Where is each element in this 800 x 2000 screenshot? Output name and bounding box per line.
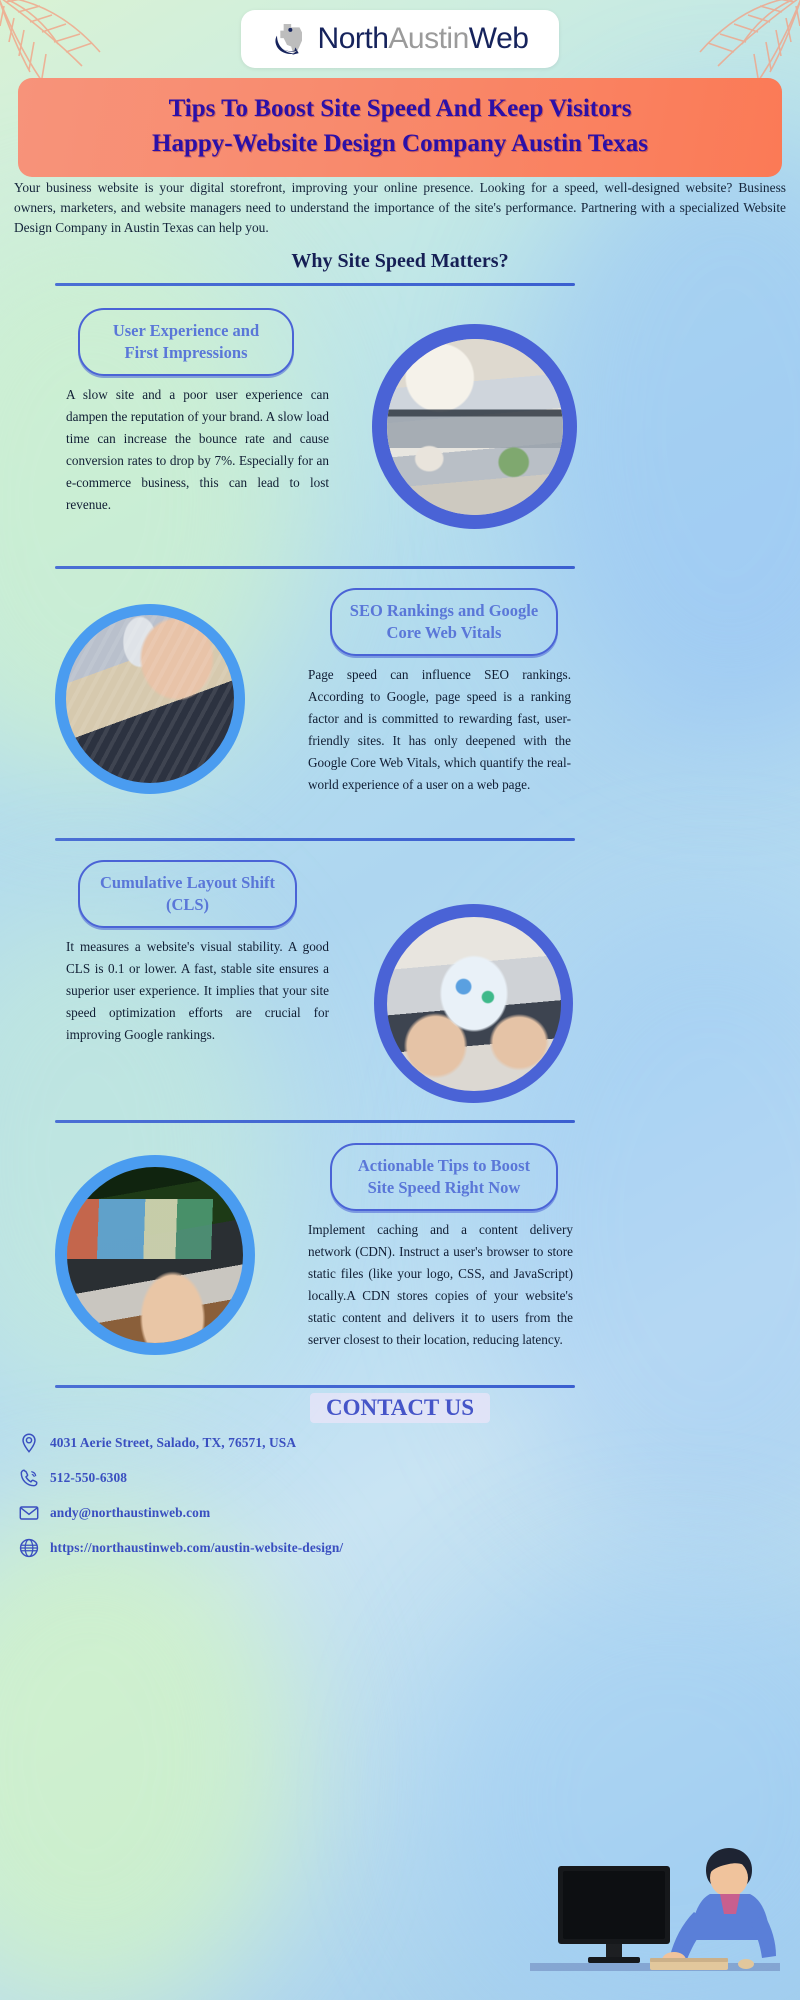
contact-heading-text: CONTACT US <box>310 1393 490 1423</box>
card-body-4: Implement caching and a content delivery… <box>308 1219 573 1350</box>
infographic-poster: NorthAustinWeb Tips To Boost Site Speed … <box>0 0 800 2000</box>
location-pin-icon <box>18 1432 40 1454</box>
contact-phone-text: 512-550-6308 <box>50 1470 127 1486</box>
divider-top <box>55 283 575 286</box>
card-body-2: Page speed can influence SEO rankings. A… <box>308 664 571 795</box>
section-heading: Why Site Speed Matters? <box>0 250 800 273</box>
intro-paragraph: Your business website is your digital st… <box>14 178 786 237</box>
contact-item-address[interactable]: 4031 Aerie Street, Salado, TX, 76571, US… <box>18 1432 488 1454</box>
card-title-4: Actionable Tips to Boost Site Speed Righ… <box>330 1143 558 1211</box>
divider-2 <box>55 838 575 841</box>
card-photo-3 <box>374 904 573 1103</box>
card-title-pill-3: Cumulative Layout Shift (CLS) <box>78 860 297 928</box>
contact-item-phone[interactable]: 512-550-6308 <box>18 1467 488 1489</box>
texas-swoosh-icon <box>272 19 312 59</box>
contact-website-text: https://northaustinweb.com/austin-websit… <box>50 1540 343 1556</box>
phone-icon <box>18 1467 40 1489</box>
logo-word-austin: Austin <box>388 22 468 55</box>
card-photo-2 <box>55 604 245 794</box>
card-title-2: SEO Rankings and Google Core Web Vitals <box>330 588 558 656</box>
person-at-desk-illustration <box>470 1840 790 2000</box>
contact-list: 4031 Aerie Street, Salado, TX, 76571, US… <box>18 1432 488 1572</box>
divider-1 <box>55 566 575 569</box>
envelope-icon <box>18 1502 40 1524</box>
card-title-pill-1: User Experience and First Impressions <box>78 308 294 376</box>
brand-logo-text: NorthAustinWeb <box>318 22 529 56</box>
logo-word-north: North <box>318 22 389 55</box>
card-photo-4 <box>55 1155 255 1355</box>
page-title: Tips To Boost Site Speed And Keep Visito… <box>36 92 764 161</box>
contact-email-text: andy@northaustinweb.com <box>50 1505 210 1521</box>
contact-item-website[interactable]: https://northaustinweb.com/austin-websit… <box>18 1537 488 1559</box>
card-title-1: User Experience and First Impressions <box>78 308 294 376</box>
contact-heading: CONTACT US <box>0 1393 800 1423</box>
divider-4 <box>55 1385 575 1388</box>
card-title-3: Cumulative Layout Shift (CLS) <box>78 860 297 928</box>
contact-item-email[interactable]: andy@northaustinweb.com <box>18 1502 488 1524</box>
page-title-line-1: Tips To Boost Site Speed And Keep Visito… <box>169 95 632 122</box>
card-body-3: It measures a website's visual stability… <box>66 936 329 1046</box>
contact-address-text: 4031 Aerie Street, Salado, TX, 76571, US… <box>50 1435 296 1451</box>
title-banner: Tips To Boost Site Speed And Keep Visito… <box>18 78 782 177</box>
logo-word-web: Web <box>469 22 529 55</box>
card-title-pill-4: Actionable Tips to Boost Site Speed Righ… <box>330 1143 558 1211</box>
brand-logo[interactable]: NorthAustinWeb <box>241 10 559 68</box>
card-title-pill-2: SEO Rankings and Google Core Web Vitals <box>330 588 558 656</box>
page-title-line-2: Happy-Website Design Company Austin Texa… <box>152 130 648 157</box>
globe-icon <box>18 1537 40 1559</box>
card-body-1: A slow site and a poor user experience c… <box>66 384 329 515</box>
card-photo-1 <box>372 324 577 529</box>
divider-3 <box>55 1120 575 1123</box>
